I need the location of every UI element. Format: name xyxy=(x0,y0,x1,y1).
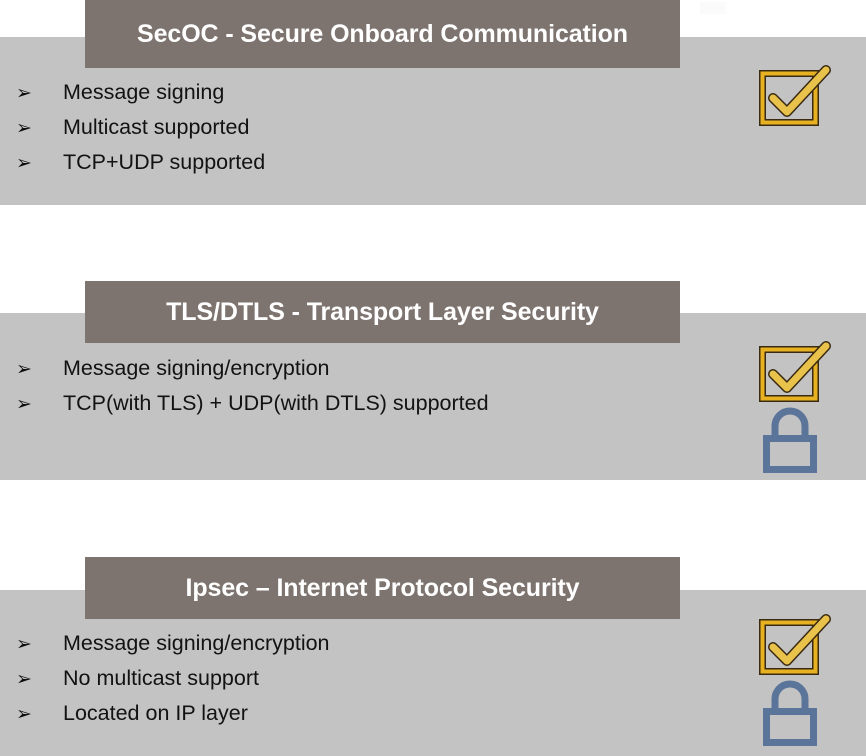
bullet-text: Multicast supported xyxy=(63,117,249,139)
panel-header-secoc: SecOC - Secure Onboard Communication xyxy=(85,0,680,68)
padlock-icon xyxy=(758,405,822,475)
checkbox-checked-icon xyxy=(756,64,832,126)
bullet-text: TCP+UDP supported xyxy=(63,152,265,174)
bullet-text: Located on IP layer xyxy=(63,703,248,725)
list-item: ➢ Message signing/encryption xyxy=(16,358,489,393)
panel-header-ipsec: Ipsec – Internet Protocol Security xyxy=(85,557,680,619)
list-item: ➢ Message signing/encryption xyxy=(16,633,330,668)
bullet-text: TCP(with TLS) + UDP(with DTLS) supported xyxy=(63,393,489,415)
arrow-bullet-icon: ➢ xyxy=(16,705,63,724)
bullet-list-tls-dtls: ➢ Message signing/encryption ➢ TCP(with … xyxy=(16,358,489,428)
arrow-bullet-icon: ➢ xyxy=(16,635,63,654)
slide-canvas: SecOC - Secure Onboard Communication ➢ M… xyxy=(0,0,866,756)
list-item: ➢ Multicast supported xyxy=(16,117,265,152)
list-item: ➢ TCP+UDP supported xyxy=(16,152,265,187)
checkbox-checked-icon xyxy=(756,340,832,402)
panel-header-tls-dtls: TLS/DTLS - Transport Layer Security xyxy=(85,281,680,343)
arrow-bullet-icon: ➢ xyxy=(16,395,63,414)
panel-title-ipsec: Ipsec – Internet Protocol Security xyxy=(186,576,580,601)
padlock-icon xyxy=(758,678,822,748)
checkbox-checked-icon xyxy=(756,613,832,675)
panel-title-secoc: SecOC - Secure Onboard Communication xyxy=(137,22,628,47)
bullet-list-ipsec: ➢ Message signing/encryption ➢ No multic… xyxy=(16,633,330,738)
bullet-text: No multicast support xyxy=(63,668,259,690)
bullet-text: Message signing/encryption xyxy=(63,358,330,380)
arrow-bullet-icon: ➢ xyxy=(16,360,63,379)
bullet-list-secoc: ➢ Message signing ➢ Multicast supported … xyxy=(16,82,265,187)
arrow-bullet-icon: ➢ xyxy=(16,119,63,138)
arrow-bullet-icon: ➢ xyxy=(16,670,63,689)
list-item: ➢ Located on IP layer xyxy=(16,703,330,738)
list-item: ➢ No multicast support xyxy=(16,668,330,703)
arrow-bullet-icon: ➢ xyxy=(16,84,63,103)
top-artifact xyxy=(700,2,726,14)
list-item: ➢ TCP(with TLS) + UDP(with DTLS) support… xyxy=(16,393,489,428)
bullet-text: Message signing xyxy=(63,82,224,104)
list-item: ➢ Message signing xyxy=(16,82,265,117)
arrow-bullet-icon: ➢ xyxy=(16,154,63,173)
panel-title-tls-dtls: TLS/DTLS - Transport Layer Security xyxy=(166,300,599,325)
bullet-text: Message signing/encryption xyxy=(63,633,330,655)
